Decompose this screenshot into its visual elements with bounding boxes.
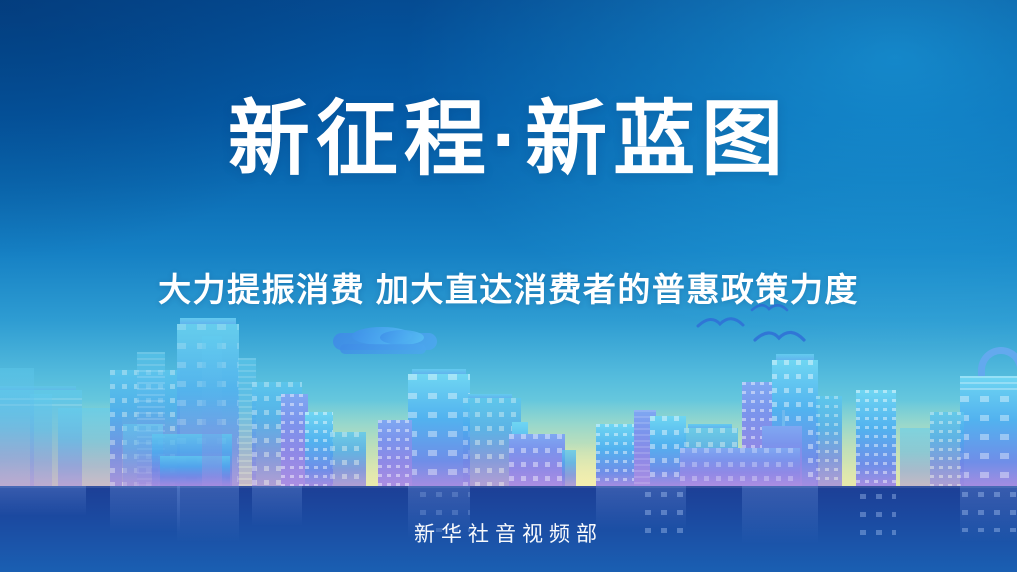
poster-canvas: 新征程·新蓝图 大力提振消费 加大直达消费者的普惠政策力度 新华社音视频部 (0, 0, 1017, 572)
page-title: 新征程·新蓝图 (0, 96, 1017, 185)
credit-line: 新华社音视频部 (0, 518, 1017, 548)
page-subtitle: 大力提振消费 加大直达消费者的普惠政策力度 (0, 263, 1017, 311)
arch-roof (978, 347, 1017, 376)
city-skyline (0, 0, 1017, 486)
